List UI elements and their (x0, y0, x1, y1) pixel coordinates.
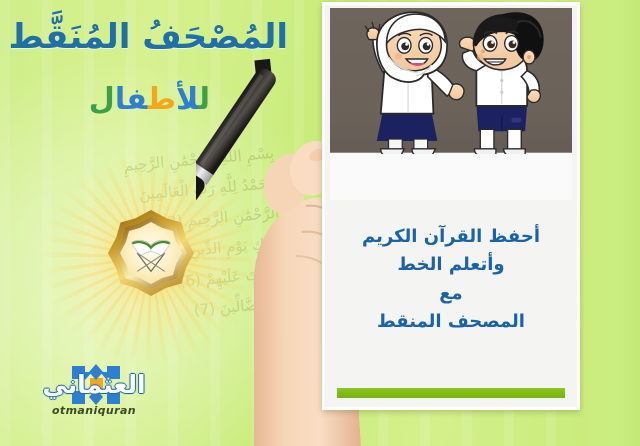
brand-logo: العثماني otmaniquran (32, 364, 156, 424)
card-message: أحفظ القرآن الكريم وأتعلم الخط مع المصحف… (333, 223, 569, 337)
kids-illustration (330, 8, 572, 154)
girl-figure (365, 12, 464, 154)
subtitle-part-5: فا (115, 82, 148, 117)
brand-name-latin: otmaniquran (32, 404, 156, 417)
content-card: أحفظ القرآن الكريم وأتعلم الخط مع المصحف… (322, 2, 580, 410)
kids-photo-panel (330, 8, 572, 154)
open-quran-icon (128, 233, 174, 273)
right-margin-strip (584, 0, 640, 446)
boy-figure (460, 12, 544, 154)
subtitle-part-6: ل (89, 82, 115, 117)
subtitle-part-4: ط (148, 82, 176, 117)
poster-root: بِسْمِ اللَّهِ الرَّحْمَٰنِ الرَّحِيمِ ا… (0, 0, 640, 446)
star-face (120, 222, 182, 284)
card-line-4: المصحف المنقط (333, 308, 569, 336)
poster-title: المُصْحَفُ المُنَقَّط (8, 16, 288, 59)
subtitle-part-1: ل (199, 82, 210, 117)
card-line-2: وأتعلم الخط (333, 251, 569, 279)
card-bottom-accent-bar (337, 388, 565, 398)
poster-subtitle: للأطفال (89, 82, 210, 118)
card-line-1: أحفظ القرآن الكريم (333, 223, 569, 251)
brand-name-arabic: العثماني (32, 370, 156, 399)
quran-star-emblem (108, 210, 194, 296)
card-line-3: مع (333, 280, 569, 308)
subtitle-part-2: ل (176, 82, 199, 117)
photo-floor-strip (330, 154, 572, 200)
